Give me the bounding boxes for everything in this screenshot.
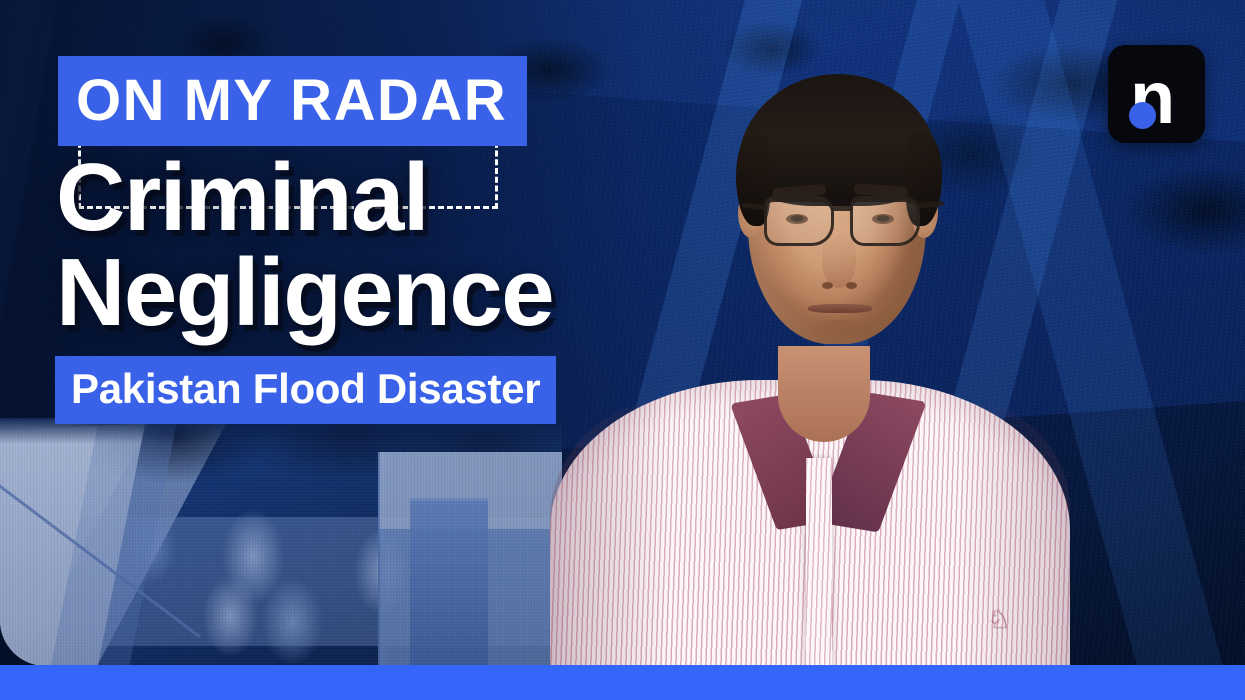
- inset-photo-grain: [0, 418, 562, 666]
- presenter-nostril-left: [822, 282, 833, 289]
- kicker-label: ON MY RADAR: [58, 56, 527, 146]
- channel-logo-dot-icon: [1129, 102, 1156, 129]
- presenter-eyeglasses-right-lens: [850, 196, 920, 246]
- presenter-neck: [778, 346, 870, 442]
- presenter-mouth: [808, 304, 872, 313]
- video-thumbnail: ♘ ON MY RADAR Criminal Negligence Pakist…: [0, 0, 1245, 700]
- subtitle-group: Pakistan Flood Disaster: [55, 356, 556, 424]
- presenter-nostril-right: [846, 282, 857, 289]
- kicker-badge-group: ON MY RADAR: [58, 56, 527, 146]
- presenter-shirt-placket: [806, 458, 832, 680]
- headline-title: Criminal Negligence: [56, 150, 553, 340]
- presenter-shirt-shadow-right: [960, 400, 1070, 680]
- bottom-accent-bar: [0, 665, 1245, 700]
- presenter-cutout: ♘: [520, 28, 1080, 668]
- presenter-eyeglasses-left-lens: [764, 196, 834, 246]
- presenter-chin-shadow: [796, 320, 882, 342]
- inset-photo-displaced-families: [0, 418, 562, 666]
- subtitle-label: Pakistan Flood Disaster: [55, 356, 556, 424]
- channel-logo: n: [1108, 45, 1205, 143]
- presenter-nose: [822, 234, 856, 288]
- presenter-eyeglasses-bridge: [832, 206, 852, 211]
- polo-pony-logo-icon: ♘: [982, 604, 1016, 634]
- presenter-shirt-shadow-left: [550, 400, 670, 680]
